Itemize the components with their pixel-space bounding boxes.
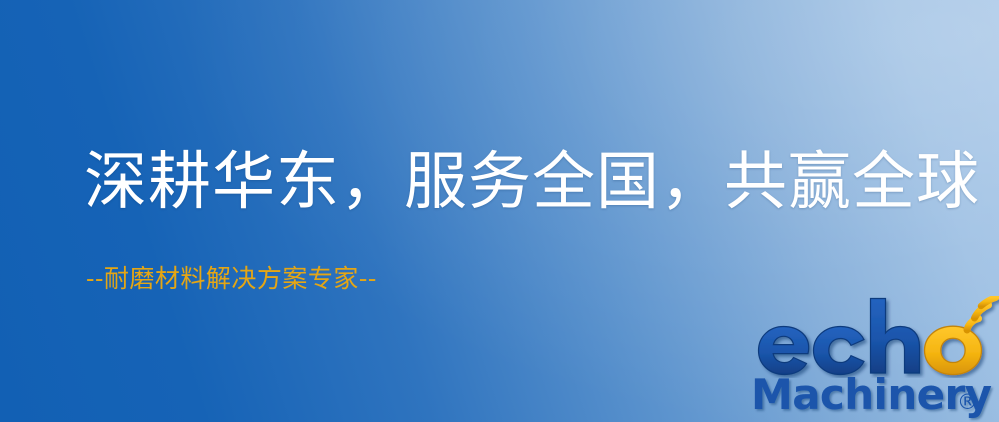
signal-arcs-icon (967, 298, 996, 331)
hero-banner: 深耕华东，服务全国，共赢全球 --耐磨材料解决方案专家-- (0, 0, 999, 422)
banner-headline: 深耕华东，服务全国，共赢全球 (84, 150, 980, 213)
echo-machinery-logo[interactable]: Machinery ® (748, 296, 999, 422)
logo-letter-h (871, 299, 920, 374)
registered-mark-icon: ® (957, 390, 978, 414)
logo-wordmark-machinery: Machinery ® (751, 368, 999, 422)
banner-subtitle: --耐磨材料解决方案专家-- (86, 266, 377, 291)
logo-machinery-text: Machinery (751, 370, 992, 419)
logo-wordmark-echo (748, 296, 999, 378)
